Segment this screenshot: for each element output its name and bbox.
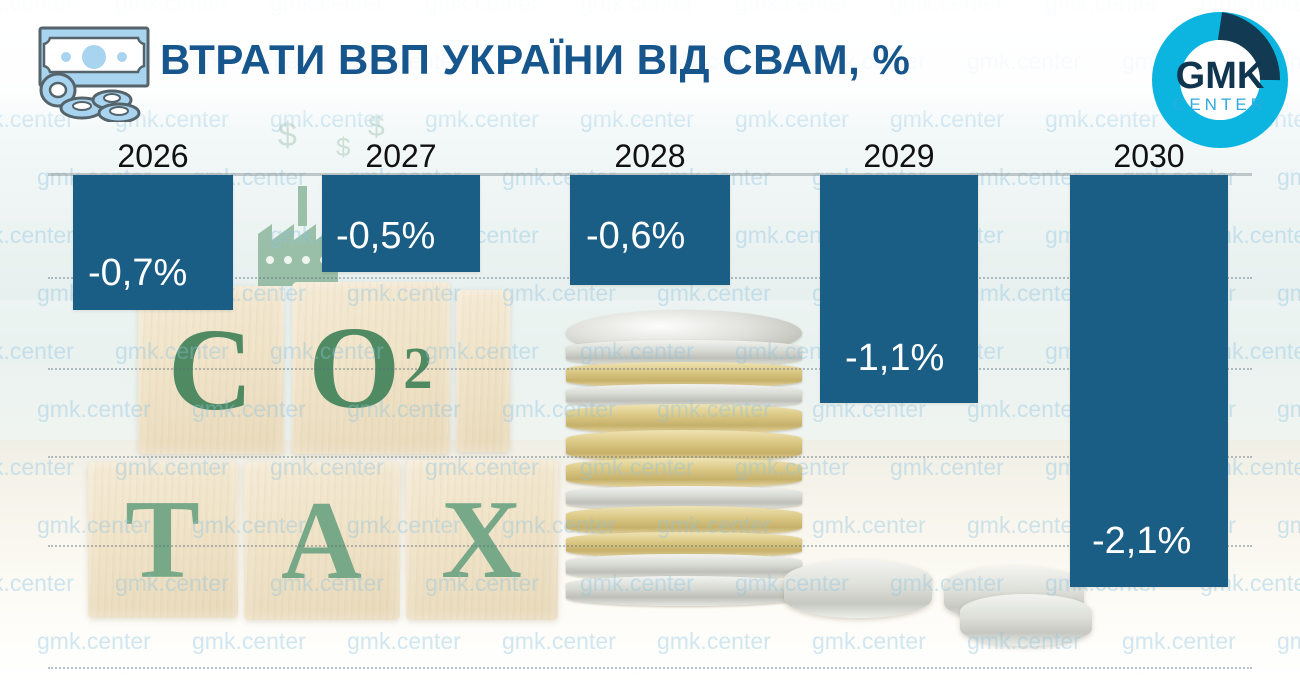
bar-value-2029: -1,1% bbox=[845, 337, 985, 380]
bar-value-2030: -2,1% bbox=[1092, 520, 1232, 563]
page-title: ВТРАТИ ВВП УКРАЇНИ ВІД СВАМ, % bbox=[160, 36, 910, 84]
logo-secondary-text: CENTER bbox=[1173, 95, 1267, 114]
category-label-2029: 2029 bbox=[820, 138, 978, 175]
category-label-2027: 2027 bbox=[322, 138, 480, 175]
gmk-center-logo[interactable]: GMK CENTER bbox=[1150, 10, 1290, 150]
infographic-root: $ $ $ C O2 T A X bbox=[0, 0, 1300, 683]
bar-value-2026: -0,7% bbox=[88, 252, 228, 295]
category-label-2026: 2026 bbox=[73, 138, 233, 175]
logo-primary-text: GMK bbox=[1176, 55, 1265, 97]
category-label-2028: 2028 bbox=[570, 138, 730, 175]
banknote-and-coins-icon bbox=[32, 22, 154, 122]
bar-value-2028: -0,6% bbox=[586, 215, 726, 258]
header-bar: ВТРАТИ ВВП УКРАЇНИ ВІД СВАМ, % GMK CENTE… bbox=[0, 0, 1300, 130]
bar-value-2027: -0,5% bbox=[336, 215, 476, 258]
gridline-2.5 bbox=[48, 667, 1252, 669]
